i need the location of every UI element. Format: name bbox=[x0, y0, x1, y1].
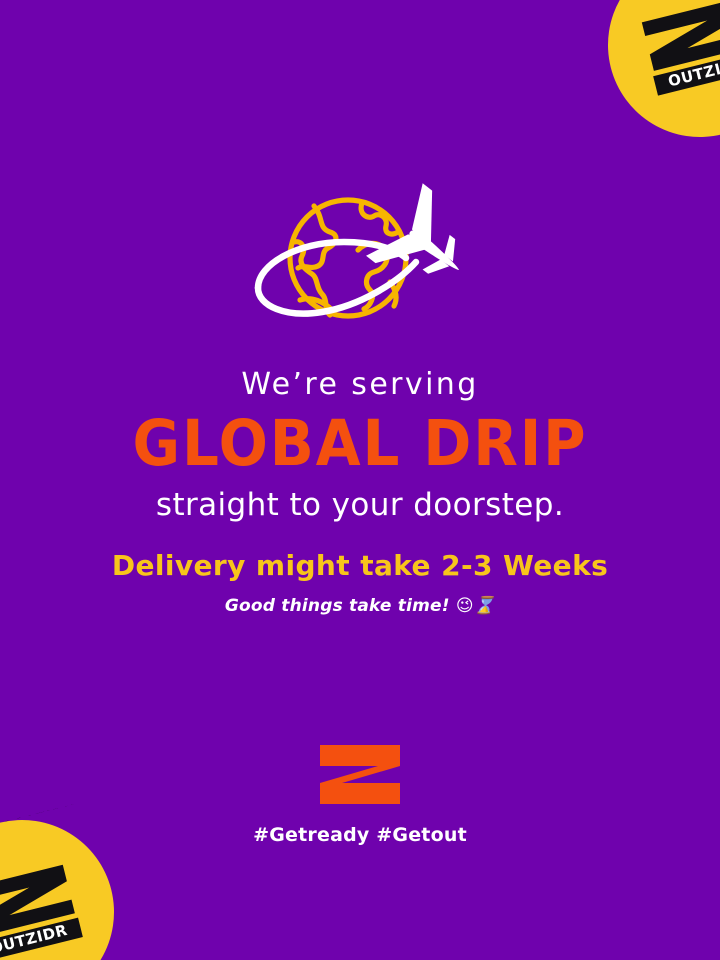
delivery-notice: Delivery might take 2-3 Weeks bbox=[0, 548, 720, 584]
headline-eyebrow: We’re serving bbox=[0, 366, 720, 404]
brand-badge-top-right: OUTZIDR · OUTZIDR · OUTZIDR · OUTZIDR · … bbox=[588, 0, 720, 157]
z-logo-icon-footer bbox=[320, 745, 400, 804]
delivery-tagline: Good things take time! 😉⌛ bbox=[0, 596, 720, 616]
delivery-block: Delivery might take 2-3 Weeks Good thing… bbox=[0, 548, 720, 616]
globe-airplane-icon bbox=[240, 178, 480, 338]
footer-hashtags: #Getready #Getout bbox=[253, 824, 467, 846]
page-title: GLOBAL DRIP bbox=[29, 410, 691, 478]
headline-block: We’re serving GLOBAL DRIP straight to yo… bbox=[0, 366, 720, 524]
headline-subtitle: straight to your doorstep. bbox=[0, 486, 720, 525]
footer-block: #Getready #Getout bbox=[0, 745, 720, 846]
